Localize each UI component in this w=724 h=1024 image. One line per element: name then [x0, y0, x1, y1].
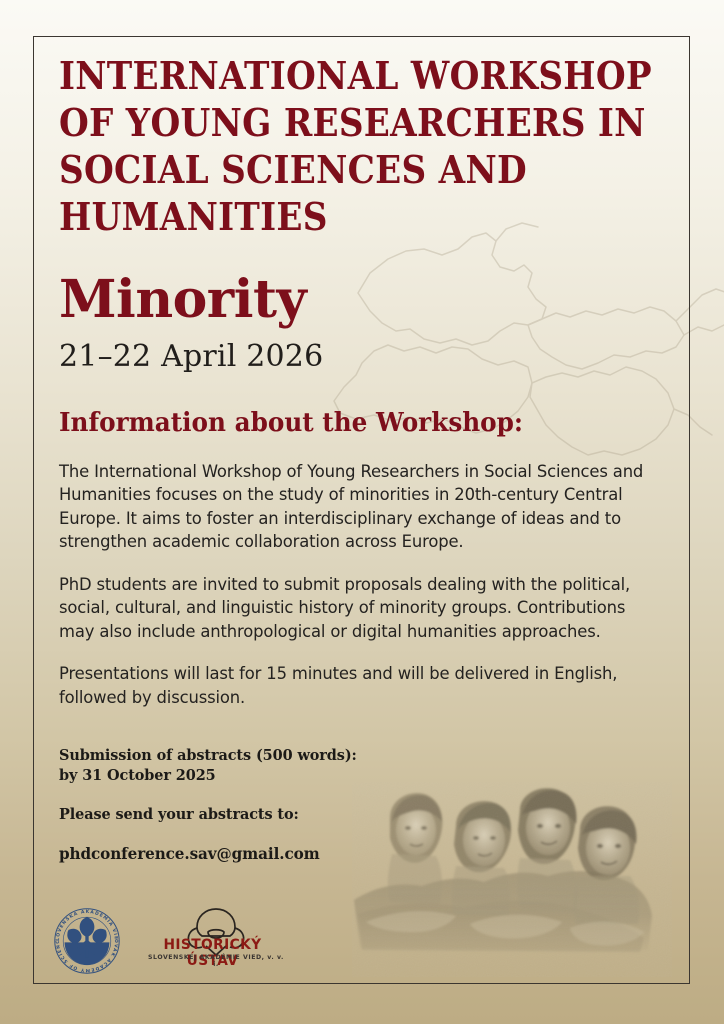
submission-details: Submission of abstracts (500 words): by … [59, 745, 458, 864]
submission-scope-paragraph: PhD students are invited to submit propo… [59, 573, 645, 643]
send-abstracts-label: Please send your abstracts to: [59, 804, 458, 824]
contact-email[interactable]: phdconference.sav@gmail.com [59, 843, 458, 864]
event-dates: 21–22 April 2026 [59, 340, 659, 373]
poster: INTERNATIONAL WORKSHOP OF YOUNG RESEARCH… [0, 0, 724, 1024]
abstracts-label: Submission of abstracts (500 words): [59, 745, 458, 765]
page-title: INTERNATIONAL WORKSHOP OF YOUNG RESEARCH… [59, 52, 653, 240]
spacer [59, 785, 458, 804]
sav-seal-logo: SLOVENSKA AKADEMIA VIED SLOVAK ACADEMY O… [52, 906, 122, 976]
workshop-description-paragraph: The International Workshop of Young Rese… [59, 460, 645, 554]
event-name: Minority [59, 274, 659, 326]
presentation-format-paragraph: Presentations will last for 15 minutes a… [59, 662, 645, 709]
poster-content: INTERNATIONAL WORKSHOP OF YOUNG RESEARCH… [59, 52, 659, 864]
historicky-ustav-subtitle: SLOVENSKEJ AKADÉMIE VIED, v. v. i. [146, 954, 286, 968]
abstracts-deadline: by 31 October 2025 [59, 765, 458, 785]
logo-row: SLOVENSKA AKADEMIA VIED SLOVAK ACADEMY O… [52, 906, 286, 976]
historicky-ustav-logo: HISTORICKÝ ÚSTAV SLOVENSKEJ AKADÉMIE VIE… [146, 906, 286, 976]
section-heading: Information about the Workshop: [59, 409, 648, 438]
